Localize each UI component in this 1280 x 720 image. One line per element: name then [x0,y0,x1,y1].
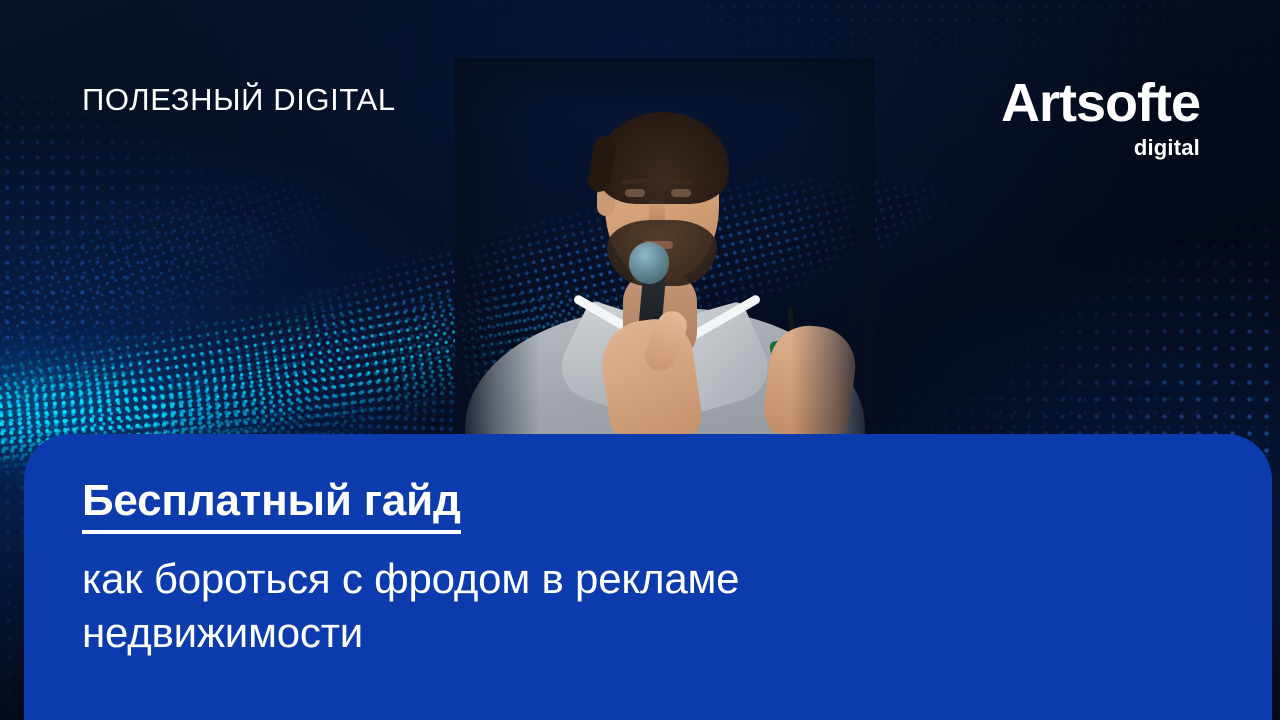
title-banner: Бесплатный гайд как бороться с фродом в … [24,434,1272,720]
speaker-photo [455,58,875,458]
brand-logo-sub: digital [1001,137,1200,159]
page-kicker: ПОЛЕЗНЫЙ DIGITAL [82,82,396,118]
photo-edge-fade [455,58,875,458]
page-title: Бесплатный гайд [82,478,461,534]
page-subtitle: как бороться с фродом в рекламе недвижим… [82,552,982,660]
brand-logo: Artsofte digital [1001,78,1200,159]
brand-logo-name: Artsofte [1001,78,1200,130]
title-banner-content: Бесплатный гайд как бороться с фродом в … [82,478,982,660]
slide-canvas: ПОЛЕЗНЫЙ DIGITAL Artsofte digital Беспла… [0,0,1280,720]
